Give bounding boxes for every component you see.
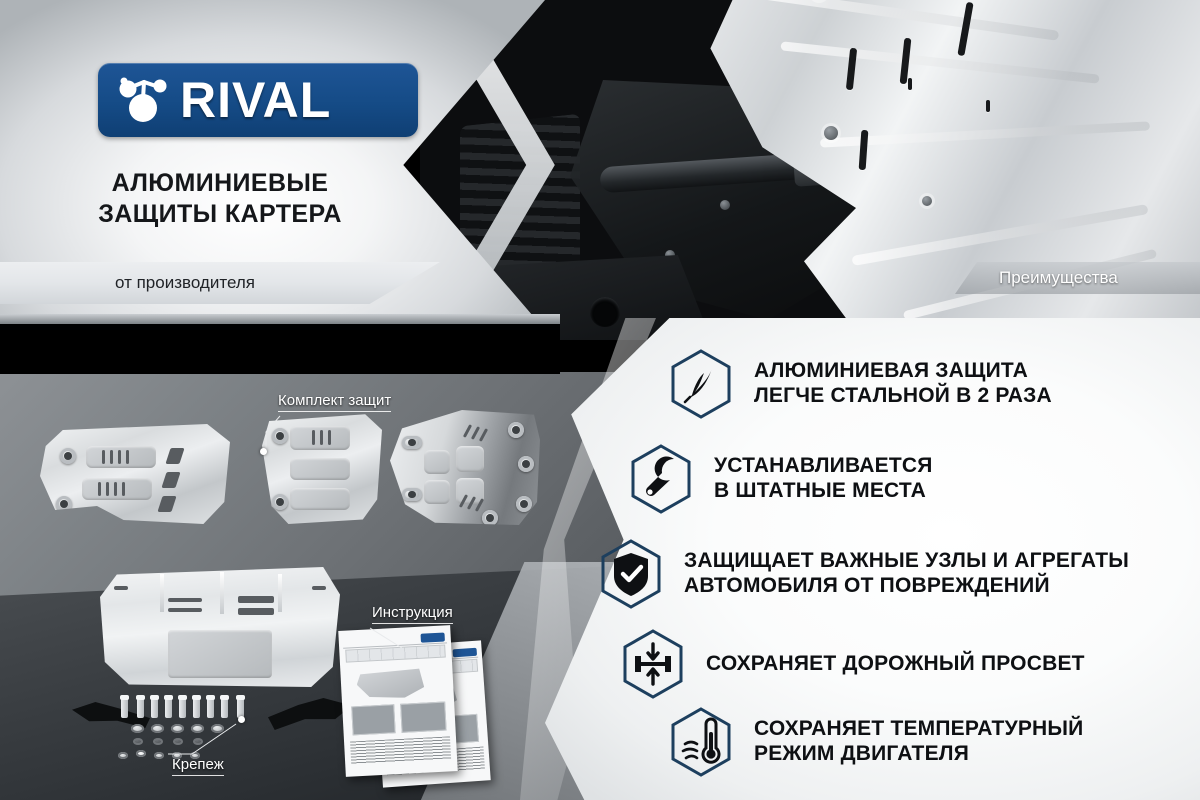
- feature-label-5: СОХРАНЯЕТ ТЕМПЕРАТУРНЫЙ РЕЖИМ ДВИГАТЕЛЯ: [754, 717, 1083, 767]
- skid-plate-3: [390, 410, 540, 525]
- feature-item-3[interactable]: ЗАЩИЩАЕТ ВАЖНЫЕ УЗЛЫ И АГРЕГАТЫ АВТОМОБИ…: [598, 538, 1129, 610]
- page-title: АЛЮМИНИЕВЫЕ ЗАЩИТЫ КАРТЕРА: [0, 168, 440, 229]
- rival-promo-banner: RIVAL АЛЮМИНИЕВЫЕ ЗАЩИТЫ КАРТЕРА от прои…: [0, 0, 1200, 800]
- callout-kit-dot: [260, 448, 267, 455]
- brand-name: RIVAL: [180, 75, 331, 125]
- advantages-tab[interactable]: Преимущества: [955, 262, 1200, 294]
- feature-label-2: УСТАНАВЛИВАЕТСЯ В ШТАТНЫЕ МЕСТА: [714, 454, 933, 504]
- header-divider-sliver: [0, 314, 560, 324]
- ground-clearance-icon: [620, 628, 686, 700]
- header-black-band: [0, 322, 560, 374]
- subtitle-text: от производителя: [0, 273, 370, 293]
- advantages-tab-label: Преимущества: [999, 268, 1118, 288]
- feature-item-1[interactable]: АЛЮМИНИЕВАЯ ЗАЩИТА ЛЕГЧЕ СТАЛЬНОЙ В 2 РА…: [668, 348, 1052, 420]
- feature-label-4: СОХРАНЯЕТ ДОРОЖНЫЙ ПРОСВЕТ: [706, 652, 1085, 677]
- wrench-icon: [628, 443, 694, 515]
- feature-item-4[interactable]: СОХРАНЯЕТ ДОРОЖНЫЙ ПРОСВЕТ: [620, 628, 1085, 700]
- title-line-1: АЛЮМИНИЕВЫЕ: [0, 168, 440, 199]
- skid-plate-large: [100, 562, 340, 687]
- callout-instruction-label: Инструкция: [372, 604, 453, 624]
- feature-label-3: ЗАЩИЩАЕТ ВАЖНЫЕ УЗЛЫ И АГРЕГАТЫ АВТОМОБИ…: [684, 549, 1129, 599]
- rival-logo[interactable]: RIVAL: [98, 63, 418, 137]
- tank-hole: [590, 297, 620, 327]
- subtitle-bar: от производителя: [0, 262, 440, 304]
- feature-label-1: АЛЮМИНИЕВАЯ ЗАЩИТА ЛЕГЧЕ СТАЛЬНОЙ В 2 РА…: [754, 359, 1052, 409]
- shield-check-icon: [598, 538, 664, 610]
- callout-hardware-dot: [238, 716, 245, 723]
- callout-kit-label: Комплект защит: [278, 392, 391, 412]
- feather-icon: [668, 348, 734, 420]
- molecule-icon: [112, 71, 172, 129]
- feature-item-5[interactable]: СОХРАНЯЕТ ТЕМПЕРАТУРНЫЙ РЕЖИМ ДВИГАТЕЛЯ: [668, 706, 1083, 778]
- thermometer-icon: [668, 706, 734, 778]
- title-line-2: ЗАЩИТЫ КАРТЕРА: [0, 199, 440, 230]
- callout-instruction: Инструкция: [372, 604, 453, 624]
- feature-item-2[interactable]: УСТАНАВЛИВАЕТСЯ В ШТАТНЫЕ МЕСТА: [628, 443, 933, 515]
- callout-kit: Комплект защит: [278, 392, 391, 412]
- bolt-dot: [720, 200, 730, 210]
- skid-plate-1: [40, 424, 230, 524]
- callout-hardware: Крепеж: [172, 756, 224, 776]
